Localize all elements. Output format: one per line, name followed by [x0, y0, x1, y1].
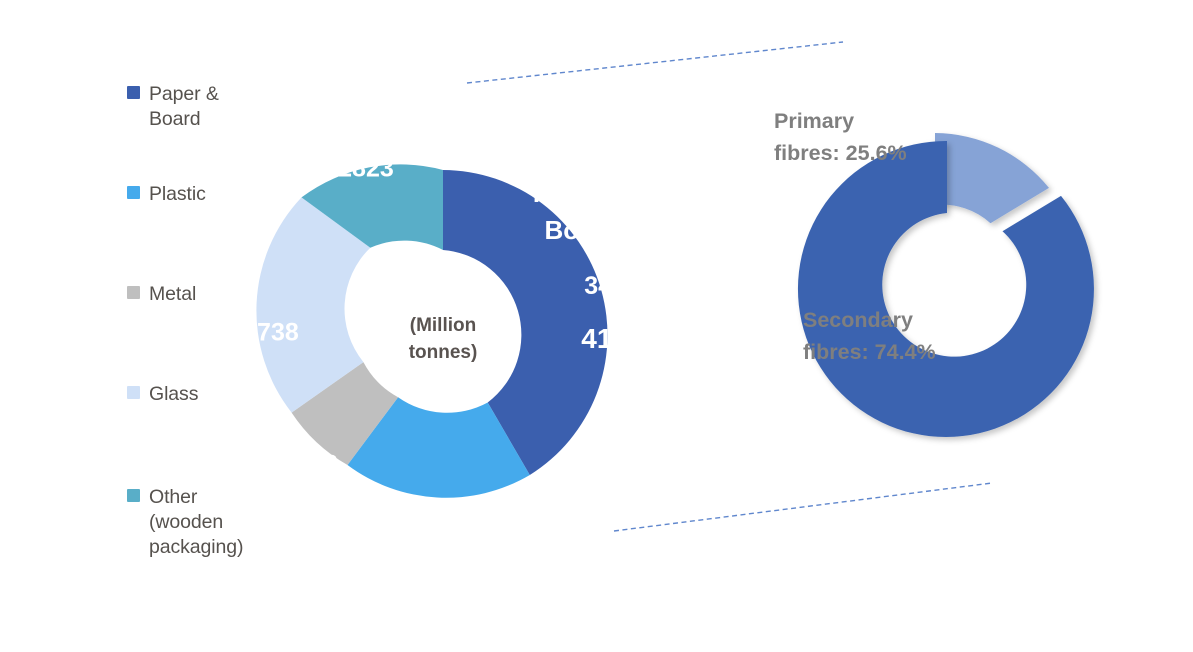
slice-title-paper-board-line2: Board [544, 215, 619, 245]
fibre-label-primary-line2: fibres: 25.6% [774, 141, 907, 165]
packaging-material-donut: 12823 15738 4562 15402 Paper & Board 340… [229, 155, 661, 532]
donut-center-note-line2: tonnes) [409, 342, 478, 363]
chart-canvas: Paper & Board Plastic Metal Glass Other … [0, 0, 1193, 652]
fibre-label-primary-line1: Primary [774, 109, 854, 133]
slice-value-plastic: 15402 [400, 504, 470, 532]
donut-charts: 12823 15738 4562 15402 Paper & Board 340… [0, 0, 1193, 652]
slice-value-paper-board: 34065 [584, 272, 654, 300]
fibre-slice-primary[interactable] [935, 133, 1049, 223]
slice-percent-paper-board: 41.2% [581, 323, 660, 354]
callout-connector-bottom [614, 483, 992, 531]
slice-title-paper-board-line1: Paper & [533, 178, 631, 208]
slice-value-metal: 4562 [284, 450, 337, 477]
fibre-label-secondary-line2: fibres: 74.4% [803, 340, 936, 364]
slice-value-glass: 15738 [229, 319, 299, 347]
paper-board-fibre-breakdown-donut: Primary fibres: 25.6% Secondary fibres: … [774, 109, 1094, 437]
donut-center-note-line1: (Million [410, 315, 476, 336]
callout-connector-top [467, 42, 843, 83]
fibre-slice-secondary[interactable] [798, 141, 1094, 437]
slice-value-other-wooden-packaging: 12823 [324, 155, 394, 183]
fibre-label-secondary-line1: Secondary [803, 308, 913, 332]
